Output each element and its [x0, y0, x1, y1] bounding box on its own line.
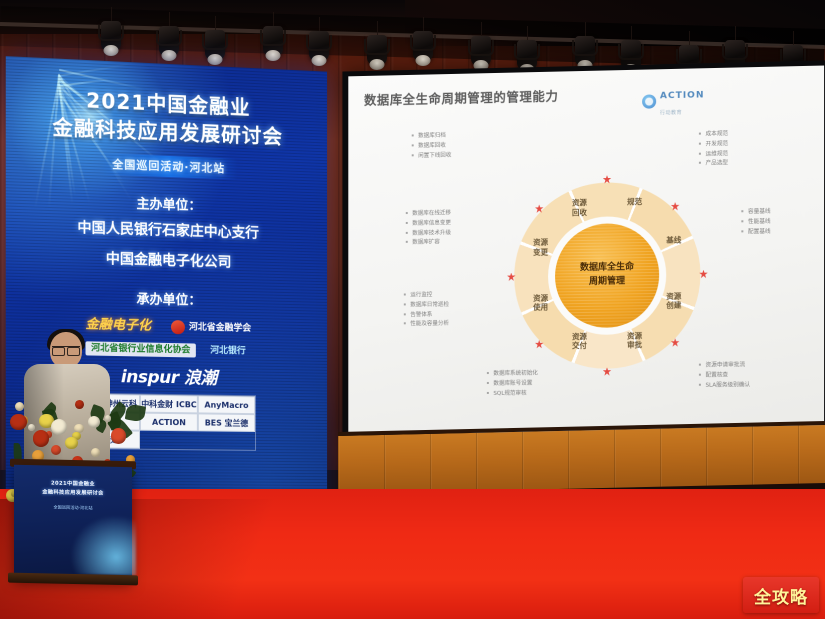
- glasses-icon: [52, 346, 80, 353]
- donut-segment-4: 资源 交付: [559, 331, 599, 350]
- callout-item: 配置基线: [741, 227, 771, 237]
- flower-bloom: [51, 445, 61, 455]
- flower-bloom: [105, 415, 112, 422]
- stage-light: [516, 26, 538, 70]
- action-logo: ACTION 行动教育: [642, 84, 705, 117]
- sponsor-logo-hbjrxh-label: 河北省金融学会: [189, 323, 251, 335]
- sponsor-logo-cell: AnyMacro: [198, 396, 255, 415]
- flower-bloom: [15, 402, 24, 411]
- flower-bloom: [10, 414, 27, 431]
- donut-center-line1: 数据库全生命: [580, 261, 634, 276]
- podium-sign-line2: 金融科技应用发展研讨会: [22, 488, 124, 499]
- callout-item: SLA服务级别确认: [698, 381, 750, 391]
- sponsor-logo-cell: ACTION: [140, 413, 198, 432]
- action-logo-name: ACTION: [660, 90, 705, 101]
- presentation-slide: 数据库全生命周期管理的管理能力 ACTION 行动教育 数据库归档数据库回收闲置…: [348, 66, 824, 435]
- callout-lower-left: 运行监控数据库日常巡检告警体系性能及容量分析: [403, 291, 449, 331]
- sponsor-logo-cell: BES 宝兰德: [198, 414, 255, 433]
- banner-host-label: 主办单位：: [16, 188, 317, 217]
- stage-light: [100, 7, 122, 51]
- sponsor-logo-cell: 中科金财 ICBC: [140, 395, 198, 414]
- donut-segment-6: 资源 变更: [521, 238, 561, 257]
- callout-item: 配置核查: [698, 371, 750, 381]
- callout-item: 开发规范: [698, 140, 728, 150]
- stage-light: [620, 26, 642, 70]
- podium-sign-line3: 全国巡回活动·河北站: [22, 504, 124, 512]
- callout-item: 数据库账号设置: [486, 379, 537, 389]
- banner-subtitle: 全国巡回活动·河北站: [100, 153, 237, 179]
- donut-segment-1: 基线: [654, 236, 694, 246]
- flower-bloom: [51, 419, 67, 435]
- stage-light: [574, 22, 596, 66]
- donut-center-line2: 周期管理: [589, 275, 625, 289]
- stage-light: [158, 12, 180, 56]
- callout-item: 数据库日常巡检: [403, 301, 449, 311]
- seal-icon: [171, 320, 185, 334]
- callout-bottom-left: 数据库系统初始化数据库账号设置SQL规范审核: [486, 370, 537, 400]
- donut-segment-3: 资源 审批: [615, 331, 655, 350]
- donut-segment-7: 资源 回收: [559, 198, 599, 217]
- donut-segment-5: 资源 使用: [521, 293, 561, 312]
- callout-item: 容量基线: [741, 208, 771, 218]
- callout-top-left: 数据库归档数据库回收闲置下线回收: [411, 132, 451, 162]
- stage-light: [308, 17, 330, 61]
- callout-item: 资源申请审批流: [698, 361, 750, 371]
- action-logo-tagline: 行动教育: [660, 110, 682, 116]
- flower-bloom: [75, 400, 84, 409]
- recycle-icon: [642, 94, 656, 108]
- sponsor-logo-cell: [140, 431, 198, 450]
- flower-leaf: [125, 404, 146, 423]
- banner-organizer-label: 承办单位：: [16, 285, 317, 312]
- callout-item: 运行监控: [403, 291, 449, 301]
- stage-light: [262, 12, 284, 56]
- slide-title: 数据库全生命周期管理的管理能力: [364, 80, 808, 109]
- callout-item: 闲置下线回收: [411, 151, 451, 162]
- conference-photo: 2021中国金融业 金融科技应用发展研讨会 全国巡回活动·河北站 主办单位： 中…: [0, 0, 825, 619]
- action-logo-text: ACTION 行动教育: [660, 84, 705, 117]
- stage-light: [366, 21, 388, 65]
- flower-bloom: [28, 424, 35, 431]
- flower-bloom: [65, 437, 77, 449]
- flower-bloom: [88, 416, 100, 428]
- sponsor-logo-hbjrxh: 河北省金融学会: [166, 318, 256, 338]
- callout-item: SQL规范审核: [486, 389, 537, 399]
- callout-item: 产品选型: [698, 160, 728, 170]
- callout-item: 性能及容量分析: [403, 320, 449, 330]
- callout-mid-right: 容量基线性能基线配置基线: [741, 208, 771, 238]
- flower-bloom: [91, 448, 100, 457]
- callout-item: 性能基线: [741, 218, 771, 228]
- callout-item: 数据库扩容: [405, 238, 451, 248]
- banner-host-org1: 中国人民银行石家庄中心支行: [16, 215, 317, 248]
- watermark-text: 全攻略: [754, 583, 808, 608]
- podium: 2021中国金融业 金融科技应用发展研讨会 全国巡回活动·河北站: [14, 465, 132, 579]
- donut-segment-0: 规范: [615, 197, 655, 207]
- stage-light: [412, 17, 434, 61]
- projection-screen-frame: 数据库全生命周期管理的管理能力 ACTION 行动教育 数据库归档数据库回收闲置…: [342, 60, 825, 440]
- flower-bloom: [33, 430, 50, 447]
- callout-bottom-right: 资源申请审批流配置核查SLA服务级别确认: [698, 361, 750, 391]
- callout-top-right: 成本规范开发规范运维规范产品选型: [698, 130, 728, 170]
- watermark-badge: 全攻略: [743, 577, 819, 613]
- stage-light: [470, 22, 492, 66]
- sponsor-logo-hbbank: 河北银行: [205, 344, 250, 359]
- lifecycle-donut-diagram: 数据库全生命 周期管理 规范基线资源 创建资源 审批资源 交付资源 使用资源 变…: [514, 181, 700, 370]
- podium-sign: 2021中国金融业 金融科技应用发展研讨会 全国巡回活动·河北站: [22, 479, 124, 512]
- callout-item: 运维规范: [698, 150, 728, 160]
- stage-light: [204, 16, 226, 60]
- podium-screen-glow: [70, 514, 136, 575]
- callout-item: 成本规范: [698, 130, 728, 140]
- stage-wood-panel: [338, 421, 825, 494]
- banner-host-org2: 中国金融电子化公司: [16, 245, 317, 277]
- sponsor-logo-cell: [198, 432, 255, 451]
- donut-segment-2: 资源 创建: [654, 291, 694, 310]
- flower-bloom: [111, 428, 126, 443]
- projection-screen: 数据库全生命周期管理的管理能力 ACTION 行动教育 数据库归档数据库回收闲置…: [348, 66, 824, 435]
- callout-mid-left: 数据库在线迁移数据库信息变更数据库技术升级数据库扩容: [405, 209, 451, 249]
- callout-item: 数据库系统初始化: [486, 370, 537, 380]
- callout-item: 告警体系: [403, 310, 449, 320]
- sponsor-logo-inspur: inspur 浪潮: [121, 362, 217, 389]
